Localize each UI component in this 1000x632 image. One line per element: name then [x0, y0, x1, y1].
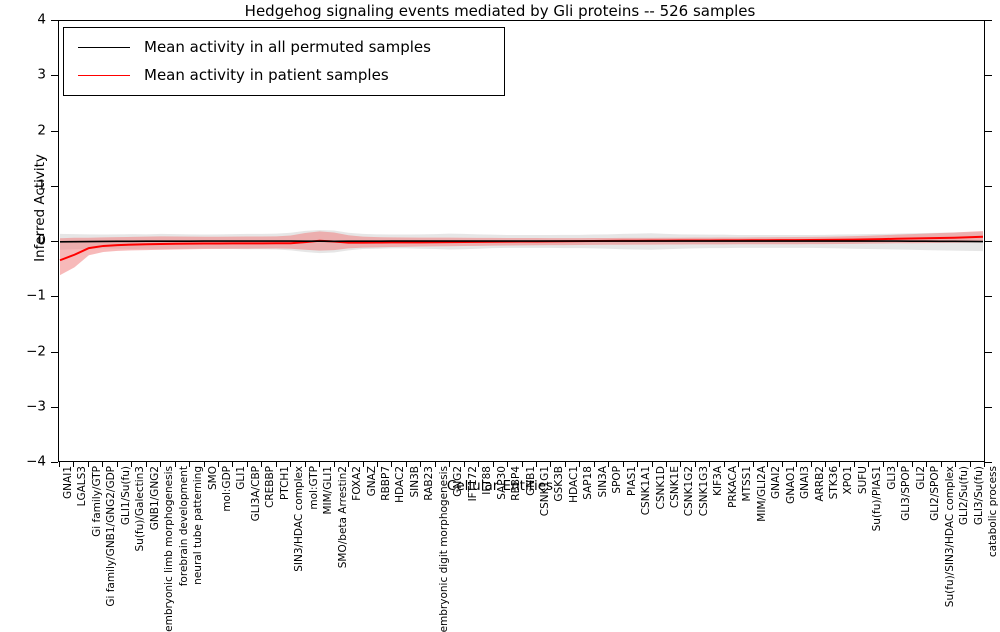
- x-tick-mark: [218, 462, 219, 467]
- x-tick-label: GNB1/GNG2: [150, 466, 161, 530]
- x-tick-mark: [912, 462, 913, 467]
- x-tick-mark: [825, 462, 826, 467]
- x-tick-mark: [290, 462, 291, 467]
- x-tick-mark: [261, 462, 262, 467]
- x-tick-mark: [464, 462, 465, 467]
- x-tick-mark: [970, 462, 971, 467]
- legend-item-permuted: Mean activity in all permuted samples: [74, 33, 494, 61]
- x-tick-mark: [623, 462, 624, 467]
- x-tick-mark: [680, 462, 681, 467]
- x-tick-mark: [348, 462, 349, 467]
- x-tick-mark: [839, 462, 840, 467]
- x-tick-mark: [666, 462, 667, 467]
- x-tick-mark: [695, 462, 696, 467]
- x-tick-mark: [435, 462, 436, 467]
- chart-figure: Hedgehog signaling events mediated by Gl…: [0, 0, 1000, 500]
- x-tick-mark: [753, 462, 754, 467]
- x-tick-mark: [782, 462, 783, 467]
- x-tick-label: GLI1/Su(fu): [121, 466, 132, 525]
- x-tick-mark: [579, 462, 580, 467]
- x-tick-mark: [652, 462, 653, 467]
- x-tick-mark: [449, 462, 450, 467]
- x-tick-mark: [319, 462, 320, 467]
- x-tick-mark: [608, 462, 609, 467]
- x-tick-mark: [377, 462, 378, 467]
- x-tick-mark: [88, 462, 89, 467]
- chart-legend: Mean activity in all permuted samples Me…: [63, 27, 505, 96]
- x-tick-mark: [926, 462, 927, 467]
- x-tick-mark: [73, 462, 74, 467]
- x-tick-label: Su(fu)/PIAS1: [872, 466, 883, 531]
- legend-swatch-permuted: [78, 47, 130, 48]
- x-tick-mark: [391, 462, 392, 467]
- x-tick-mark: [565, 462, 566, 467]
- x-tick-mark: [146, 462, 147, 467]
- x-tick-mark: [160, 462, 161, 467]
- x-tick-mark: [276, 462, 277, 467]
- x-tick-mark: [131, 462, 132, 467]
- legend-label-patient: Mean activity in patient samples: [144, 66, 389, 84]
- x-tick-mark: [594, 462, 595, 467]
- x-tick-mark: [406, 462, 407, 467]
- x-tick-mark: [709, 462, 710, 467]
- x-tick-mark: [204, 462, 205, 467]
- x-tick-mark: [984, 462, 985, 467]
- x-tick-mark: [955, 462, 956, 467]
- x-tick-mark: [796, 462, 797, 467]
- x-tick-label: Gi family/GTP: [92, 466, 103, 537]
- x-tick-mark: [883, 462, 884, 467]
- x-tick-mark: [550, 462, 551, 467]
- x-tick-mark: [305, 462, 306, 467]
- x-tick-mark: [478, 462, 479, 467]
- x-tick-mark: [363, 462, 364, 467]
- x-tick-mark: [811, 462, 812, 467]
- legend-label-permuted: Mean activity in all permuted samples: [144, 38, 431, 56]
- x-tick-label: GLI3/Su(fu): [974, 466, 985, 525]
- legend-swatch-patient: [78, 75, 130, 76]
- x-tick-mark: [738, 462, 739, 467]
- x-tick-mark: [897, 462, 898, 467]
- x-tick-mark: [175, 462, 176, 467]
- x-tick-mark: [868, 462, 869, 467]
- x-tick-mark: [536, 462, 537, 467]
- x-tick-mark: [507, 462, 508, 467]
- x-tick-mark: [724, 462, 725, 467]
- x-tick-mark: [420, 462, 421, 467]
- x-axis-label: Cellular Entities: [0, 478, 1000, 494]
- legend-item-patient: Mean activity in patient samples: [74, 61, 494, 89]
- x-tick-mark: [637, 462, 638, 467]
- x-tick-mark: [117, 462, 118, 467]
- x-tick-mark: [854, 462, 855, 467]
- x-tick-mark: [522, 462, 523, 467]
- x-tick-mark: [102, 462, 103, 467]
- x-tick-mark: [334, 462, 335, 467]
- x-tick-mark: [189, 462, 190, 467]
- x-tick-mark: [232, 462, 233, 467]
- x-tick-mark: [493, 462, 494, 467]
- x-tick-mark: [247, 462, 248, 467]
- x-tick-mark: [59, 462, 60, 467]
- x-tick-mark: [941, 462, 942, 467]
- x-tick-mark: [767, 462, 768, 467]
- x-tick-label: GLI2/Su(fu): [959, 466, 970, 525]
